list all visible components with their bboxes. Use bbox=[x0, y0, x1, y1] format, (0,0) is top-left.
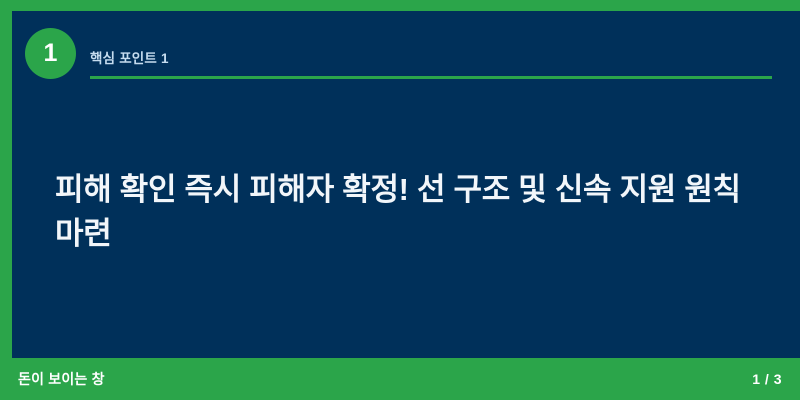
footer-brand-label: 돈이 보이는 창 bbox=[18, 369, 105, 389]
page-indicator: 1 / 3 bbox=[752, 371, 782, 387]
slide-footer: 돈이 보이는 창 1 / 3 bbox=[0, 358, 800, 400]
section-eyebrow-label: 핵심 포인트 1 bbox=[90, 47, 169, 67]
header-divider bbox=[90, 76, 772, 79]
slide-canvas: 1 핵심 포인트 1 피해 확인 즉시 피해자 확정! 선 구조 및 신속 지원… bbox=[0, 0, 800, 400]
step-number-label: 1 bbox=[44, 41, 58, 66]
page-title: 피해 확인 즉시 피해자 확정! 선 구조 및 신속 지원 원칙 마련 bbox=[55, 168, 755, 256]
step-number-badge: 1 bbox=[25, 28, 76, 79]
slide-header: 1 핵심 포인트 1 bbox=[12, 11, 800, 83]
